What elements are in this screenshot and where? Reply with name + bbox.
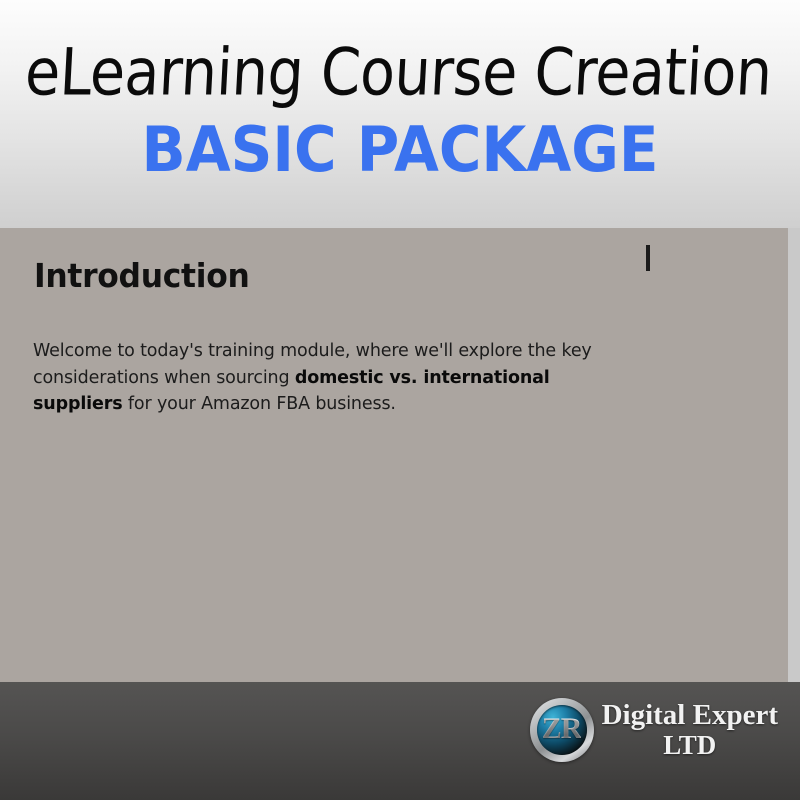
slide-paragraph: Welcome to today's training module, wher… (33, 338, 613, 418)
brand-text: Digital Expert LTD (602, 700, 778, 759)
text-cursor-icon (646, 245, 650, 271)
footer-bar: ZR Digital Expert LTD (0, 682, 800, 800)
banner-title: eLearning Course Creation (23, 40, 773, 106)
slide-content-area[interactable]: Introduction Welcome to today's training… (0, 228, 788, 682)
brand-suffix: LTD (663, 731, 716, 760)
brand-name: Digital Expert (602, 700, 778, 731)
banner-header: eLearning Course Creation BASIC PACKAGE (0, 0, 800, 228)
banner-subtitle: BASIC PACKAGE (142, 118, 659, 181)
slide-heading: Introduction (34, 256, 249, 295)
zr-circular-logo-icon: ZR (530, 698, 594, 762)
paragraph-text: for your Amazon FBA business. (123, 394, 396, 414)
brand-lockup: ZR Digital Expert LTD (530, 698, 778, 762)
logo-monogram: ZR (542, 714, 582, 744)
logo-inner-disc: ZR (537, 705, 587, 755)
slide-frame: eLearning Course Creation BASIC PACKAGE … (0, 0, 800, 800)
